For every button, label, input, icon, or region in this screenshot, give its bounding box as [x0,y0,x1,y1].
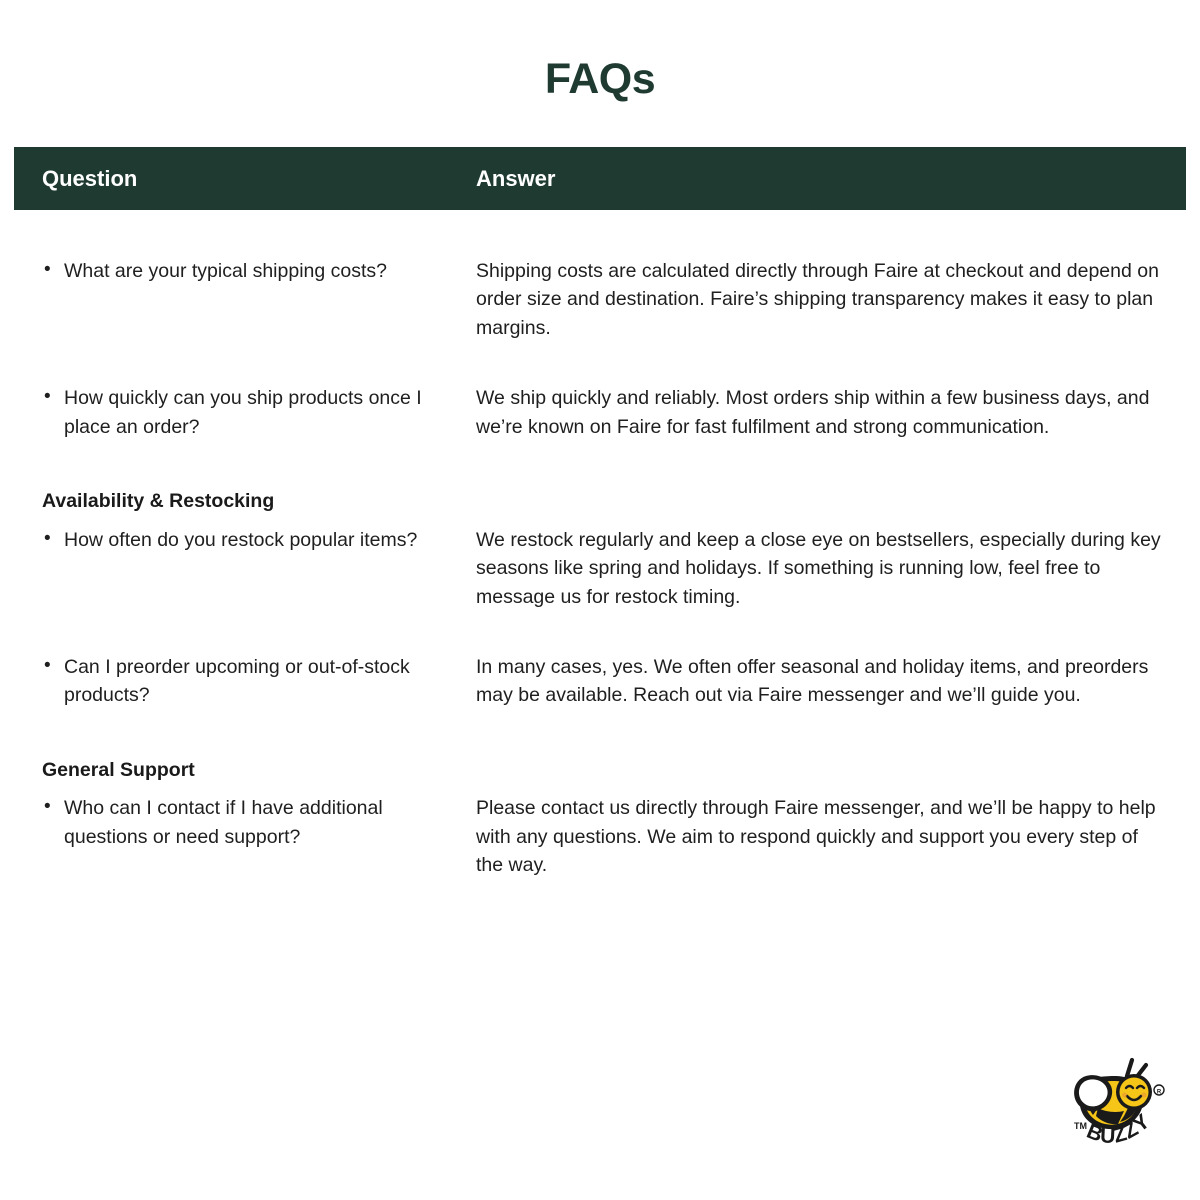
answer-text: We ship quickly and reliably. Most order… [476,384,1166,441]
column-header-answer: Answer [476,168,555,190]
answer-text: In many cases, yes. We often offer seaso… [476,653,1166,710]
answer-cell: We restock regularly and keep a close ey… [476,526,1176,611]
answer-cell: In many cases, yes. We often offer seaso… [476,653,1176,710]
list-item: How often do you restock popular items? [42,526,466,554]
bee-icon: R TM BUZZY [1058,1038,1170,1150]
answer-cell: We ship quickly and reliably. Most order… [476,384,1176,441]
buzzy-bee-logo: R TM BUZZY [1058,1038,1170,1150]
answer-text: Shipping costs are calculated directly t… [476,257,1166,342]
question-cell: What are your typical shipping costs? [14,257,476,285]
question-cell: Who can I contact if I have additional q… [14,794,476,851]
answer-cell: Shipping costs are calculated directly t… [476,257,1176,342]
table-row: How quickly can you ship products once I… [14,384,1186,441]
list-item: Can I preorder upcoming or out-of-stock … [42,653,466,710]
table-header-row: Question Answer [14,147,1186,210]
table-row: Who can I contact if I have additional q… [14,794,1186,879]
section-cell: General Support [14,756,476,784]
table-row: What are your typical shipping costs? Sh… [14,257,1186,342]
trademark-mark: TM [1074,1121,1087,1131]
question-cell: Can I preorder upcoming or out-of-stock … [14,653,476,710]
question-cell: How often do you restock popular items? [14,526,476,554]
list-item: Who can I contact if I have additional q… [42,794,466,851]
page-title: FAQs [0,0,1200,101]
answer-text: Please contact us directly through Faire… [476,794,1166,879]
section-heading: Availability & Restocking [42,487,466,515]
answer-text: We restock regularly and keep a close ey… [476,526,1166,611]
faq-table: Question Answer What are your typical sh… [14,147,1186,880]
registered-mark: R [1157,1089,1162,1095]
column-header-question: Question [14,168,476,190]
table-section-row: General Support [14,756,1186,784]
faq-page: FAQs Question Answer What are your typic… [0,0,1200,1200]
section-cell: Availability & Restocking [14,487,476,515]
table-section-row: Availability & Restocking [14,487,1186,515]
section-heading: General Support [42,756,466,784]
table-body: What are your typical shipping costs? Sh… [14,210,1186,880]
question-cell: How quickly can you ship products once I… [14,384,476,441]
table-row: Can I preorder upcoming or out-of-stock … [14,653,1186,710]
list-item: What are your typical shipping costs? [42,257,466,285]
list-item: How quickly can you ship products once I… [42,384,466,441]
answer-cell: Please contact us directly through Faire… [476,794,1176,879]
table-row: How often do you restock popular items? … [14,526,1186,611]
